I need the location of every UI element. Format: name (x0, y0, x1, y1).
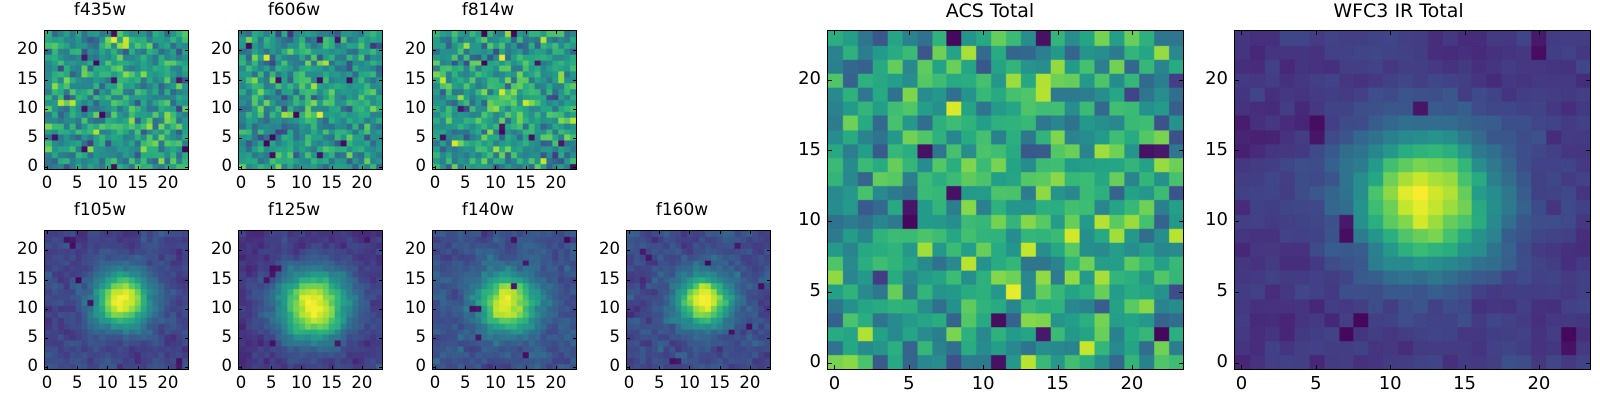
y-axis-tick (44, 80, 48, 81)
x-axis-tick (629, 230, 630, 234)
x-axis-tick (77, 366, 78, 370)
x-axis-tick (495, 366, 496, 370)
x-axis-tick (47, 230, 48, 234)
y-axis-tick-label: 15 (0, 271, 38, 288)
y-axis-tick-label: 0 (186, 158, 232, 175)
x-axis-tick (332, 166, 333, 170)
y-axis-tick-label: 10 (0, 100, 38, 117)
x-axis-tick (301, 366, 302, 370)
y-axis-tick (626, 338, 630, 339)
image-axes[interactable] (626, 230, 771, 370)
y-axis-tick (573, 80, 577, 81)
panel-title: f105w (0, 200, 200, 220)
x-axis-tick (526, 230, 527, 234)
y-axis-tick (432, 250, 436, 251)
y-axis-tick-label: 0 (0, 358, 38, 375)
panel-f814w: f814w 0510152005101520 (388, 0, 588, 200)
y-axis-tick-label: 10 (1182, 211, 1228, 229)
panel-title: WFC3 IR Total (1197, 0, 1600, 22)
x-axis-tick (271, 30, 272, 34)
y-axis-tick (238, 250, 242, 251)
y-axis-tick (573, 167, 577, 168)
y-axis-tick-label: 20 (380, 41, 426, 58)
y-axis-tick (432, 138, 436, 139)
heatmap-canvas (1235, 31, 1590, 369)
panel-title: f140w (388, 200, 588, 220)
y-axis-tick (44, 50, 48, 51)
x-axis-tick (168, 230, 169, 234)
panel-title: f814w (388, 0, 588, 20)
x-axis-tick (526, 366, 527, 370)
y-axis-tick (44, 138, 48, 139)
x-axis-tick-label: 20 (332, 375, 392, 392)
x-axis-tick (1539, 30, 1540, 35)
y-axis-tick-label: 5 (186, 329, 232, 346)
x-axis-tick (720, 366, 721, 370)
y-axis-tick (1234, 363, 1239, 364)
x-axis-tick (435, 230, 436, 234)
panel-title: f160w (582, 200, 782, 220)
x-axis-tick (271, 366, 272, 370)
heatmap-canvas (433, 31, 576, 169)
y-axis-tick (238, 167, 242, 168)
heatmap-canvas (433, 231, 576, 369)
y-axis-tick (432, 167, 436, 168)
x-axis-tick-label: 0 (1211, 375, 1271, 393)
x-axis-tick (1390, 365, 1391, 370)
y-axis-tick-label: 10 (775, 211, 821, 229)
y-axis-tick (1234, 150, 1239, 151)
image-axes[interactable] (1234, 30, 1591, 370)
y-axis-tick (432, 109, 436, 110)
y-axis-tick-label: 0 (186, 358, 232, 375)
y-axis-tick (767, 250, 771, 251)
x-axis-tick (271, 166, 272, 170)
x-axis-tick-label: 20 (332, 175, 392, 192)
x-axis-tick (1465, 30, 1466, 35)
x-axis-tick-label: 10 (1360, 375, 1420, 393)
x-axis-tick-label: 20 (720, 375, 780, 392)
heatmap-canvas (828, 31, 1183, 369)
x-axis-tick-label: 20 (138, 175, 198, 192)
y-axis-tick (573, 50, 577, 51)
y-axis-tick (1586, 363, 1591, 364)
y-axis-tick (573, 109, 577, 110)
y-axis-tick (767, 338, 771, 339)
x-axis-tick (750, 366, 751, 370)
y-axis-tick-label: 0 (0, 158, 38, 175)
y-axis-tick-label: 20 (1182, 70, 1228, 88)
x-axis-tick (556, 166, 557, 170)
x-axis-tick (138, 166, 139, 170)
x-axis-tick (362, 230, 363, 234)
image-axes[interactable] (44, 30, 189, 170)
y-axis-tick-label: 20 (0, 41, 38, 58)
y-axis-tick-label: 5 (574, 329, 620, 346)
x-axis-tick (435, 30, 436, 34)
x-axis-tick (168, 30, 169, 34)
x-axis-tick (138, 230, 139, 234)
panel-title: ACS Total (790, 0, 1190, 22)
image-axes[interactable] (827, 30, 1184, 370)
y-axis-tick (626, 367, 630, 368)
x-axis-tick (301, 230, 302, 234)
y-axis-tick-label: 15 (380, 71, 426, 88)
x-axis-tick (750, 230, 751, 234)
y-axis-tick-label: 5 (186, 129, 232, 146)
y-axis-tick-label: 5 (380, 129, 426, 146)
x-axis-tick (332, 230, 333, 234)
x-axis-tick (362, 366, 363, 370)
panel-f140w: f140w 0510152005101520 (388, 200, 588, 400)
image-axes[interactable] (432, 30, 577, 170)
x-axis-tick (834, 365, 835, 370)
y-axis-tick (432, 338, 436, 339)
y-axis-tick (1586, 292, 1591, 293)
x-axis-tick (689, 366, 690, 370)
y-axis-tick-label: 0 (380, 158, 426, 175)
x-axis-tick (107, 30, 108, 34)
x-axis-tick (107, 366, 108, 370)
image-axes[interactable] (432, 230, 577, 370)
y-axis-tick (626, 309, 630, 310)
y-axis-tick (432, 50, 436, 51)
panel-title: f435w (0, 0, 200, 20)
x-axis-tick (332, 366, 333, 370)
y-axis-tick (827, 363, 832, 364)
x-axis-tick (1241, 30, 1242, 35)
x-axis-tick (909, 365, 910, 370)
y-axis-tick-label: 5 (380, 329, 426, 346)
x-axis-tick (1132, 365, 1133, 370)
y-axis-tick-label: 15 (186, 271, 232, 288)
y-axis-tick-label: 20 (775, 70, 821, 88)
y-axis-tick (827, 150, 832, 151)
x-axis-tick-label: 20 (1509, 375, 1569, 393)
panel-f435w: f435w 0510152005101520 (0, 0, 200, 200)
y-axis-tick-label: 5 (0, 329, 38, 346)
x-axis-tick (1132, 30, 1133, 35)
image-axes[interactable] (238, 30, 383, 170)
panel-f160w: f160w 0510152005101520 (582, 200, 782, 400)
y-axis-tick (238, 138, 242, 139)
x-axis-tick (1241, 365, 1242, 370)
y-axis-tick (1234, 292, 1239, 293)
y-axis-tick-label: 15 (1182, 141, 1228, 159)
x-axis-tick-label: 5 (1286, 375, 1346, 393)
y-axis-tick-label: 15 (380, 271, 426, 288)
x-axis-tick (465, 166, 466, 170)
y-axis-tick-label: 5 (1182, 282, 1228, 300)
y-axis-tick (238, 80, 242, 81)
x-axis-tick-label: 15 (1435, 375, 1495, 393)
x-axis-tick (465, 230, 466, 234)
x-axis-tick (107, 166, 108, 170)
x-axis-tick (1058, 365, 1059, 370)
figure-canvas: f435w 0510152005101520 f606w 05101520051… (0, 0, 1600, 400)
x-axis-tick (526, 166, 527, 170)
y-axis-tick-label: 10 (574, 300, 620, 317)
x-axis-tick-label: 10 (953, 375, 1013, 393)
y-axis-tick (238, 109, 242, 110)
y-axis-tick-label: 15 (574, 271, 620, 288)
x-axis-tick (465, 366, 466, 370)
x-axis-tick (689, 230, 690, 234)
y-axis-tick (44, 167, 48, 168)
y-axis-tick (238, 338, 242, 339)
image-axes[interactable] (44, 230, 189, 370)
y-axis-tick (626, 280, 630, 281)
x-axis-tick (107, 230, 108, 234)
y-axis-tick (44, 338, 48, 339)
x-axis-tick (1390, 30, 1391, 35)
heatmap-canvas (239, 31, 382, 169)
x-axis-tick (556, 30, 557, 34)
y-axis-tick-label: 0 (574, 358, 620, 375)
x-axis-tick (168, 166, 169, 170)
y-axis-tick-label: 10 (186, 100, 232, 117)
y-axis-tick-label: 0 (380, 358, 426, 375)
x-axis-tick (983, 30, 984, 35)
y-axis-tick-label: 10 (380, 300, 426, 317)
y-axis-tick-label: 20 (380, 241, 426, 258)
x-axis-tick-label: 15 (1028, 375, 1088, 393)
panel-title: f125w (194, 200, 394, 220)
x-axis-tick (1465, 365, 1466, 370)
y-axis-tick (626, 250, 630, 251)
y-axis-tick (432, 367, 436, 368)
panel-title: f606w (194, 0, 394, 20)
y-axis-tick (1234, 80, 1239, 81)
panel-wfc3-ir-total: WFC3 IR Total 0510152005101520 (1197, 0, 1600, 400)
x-axis-tick (495, 230, 496, 234)
y-axis-tick-label: 15 (186, 71, 232, 88)
heatmap-canvas (45, 231, 188, 369)
y-axis-tick (767, 309, 771, 310)
x-axis-tick (720, 230, 721, 234)
y-axis-tick (1586, 150, 1591, 151)
x-axis-tick (77, 166, 78, 170)
x-axis-tick (362, 30, 363, 34)
heatmap-canvas (45, 31, 188, 169)
x-axis-tick (659, 366, 660, 370)
heatmap-canvas (239, 231, 382, 369)
y-axis-tick-label: 15 (0, 71, 38, 88)
x-axis-tick (556, 230, 557, 234)
x-axis-tick (495, 30, 496, 34)
x-axis-tick (168, 366, 169, 370)
y-axis-tick-label: 10 (186, 300, 232, 317)
x-axis-tick (465, 30, 466, 34)
heatmap-canvas (627, 231, 770, 369)
panel-f125w: f125w 0510152005101520 (194, 200, 394, 400)
x-axis-tick-label: 20 (526, 375, 586, 392)
image-axes[interactable] (238, 230, 383, 370)
y-axis-tick (1234, 221, 1239, 222)
x-axis-tick (138, 30, 139, 34)
y-axis-tick (573, 138, 577, 139)
x-axis-tick-label: 0 (804, 375, 864, 393)
y-axis-tick-label: 20 (0, 241, 38, 258)
x-axis-tick (47, 30, 48, 34)
y-axis-tick-label: 10 (0, 300, 38, 317)
x-axis-tick (1539, 365, 1540, 370)
x-axis-tick (983, 365, 984, 370)
x-axis-tick-label: 20 (526, 175, 586, 192)
x-axis-tick-label: 20 (1102, 375, 1162, 393)
y-axis-tick (44, 280, 48, 281)
y-axis-tick (432, 280, 436, 281)
x-axis-tick (659, 230, 660, 234)
y-axis-tick (1586, 80, 1591, 81)
y-axis-tick-label: 0 (1182, 353, 1228, 371)
panel-f105w: f105w 0510152005101520 (0, 200, 200, 400)
y-axis-tick (238, 367, 242, 368)
y-axis-tick (44, 309, 48, 310)
x-axis-tick-label: 5 (879, 375, 939, 393)
y-axis-tick-label: 20 (186, 241, 232, 258)
x-axis-tick (77, 30, 78, 34)
y-axis-tick (767, 280, 771, 281)
y-axis-tick (827, 221, 832, 222)
x-axis-tick (241, 30, 242, 34)
x-axis-tick (77, 230, 78, 234)
x-axis-tick (301, 30, 302, 34)
y-axis-tick (238, 50, 242, 51)
y-axis-tick-label: 20 (186, 41, 232, 58)
y-axis-tick (44, 367, 48, 368)
x-axis-tick (834, 30, 835, 35)
y-axis-tick-label: 10 (380, 100, 426, 117)
y-axis-tick-label: 15 (775, 141, 821, 159)
y-axis-tick (767, 367, 771, 368)
x-axis-tick-label: 20 (138, 375, 198, 392)
y-axis-tick (432, 80, 436, 81)
x-axis-tick (495, 166, 496, 170)
x-axis-tick (556, 366, 557, 370)
y-axis-tick-label: 0 (775, 353, 821, 371)
y-axis-tick (1586, 221, 1591, 222)
y-axis-tick (827, 292, 832, 293)
x-axis-tick (1316, 30, 1317, 35)
y-axis-tick (432, 309, 436, 310)
y-axis-tick (44, 250, 48, 251)
x-axis-tick (526, 30, 527, 34)
x-axis-tick (1058, 30, 1059, 35)
x-axis-tick (362, 166, 363, 170)
x-axis-tick (241, 230, 242, 234)
y-axis-tick (238, 309, 242, 310)
x-axis-tick (301, 166, 302, 170)
y-axis-tick-label: 5 (775, 282, 821, 300)
panel-f606w: f606w 0510152005101520 (194, 0, 394, 200)
panel-acs-total: ACS Total 0510152005101520 (790, 0, 1190, 400)
y-axis-tick-label: 5 (0, 129, 38, 146)
x-axis-tick (1316, 365, 1317, 370)
x-axis-tick (332, 30, 333, 34)
y-axis-tick (44, 109, 48, 110)
y-axis-tick (238, 280, 242, 281)
y-axis-tick-label: 20 (574, 241, 620, 258)
x-axis-tick (271, 230, 272, 234)
x-axis-tick (138, 366, 139, 370)
y-axis-tick (827, 80, 832, 81)
x-axis-tick (909, 30, 910, 35)
